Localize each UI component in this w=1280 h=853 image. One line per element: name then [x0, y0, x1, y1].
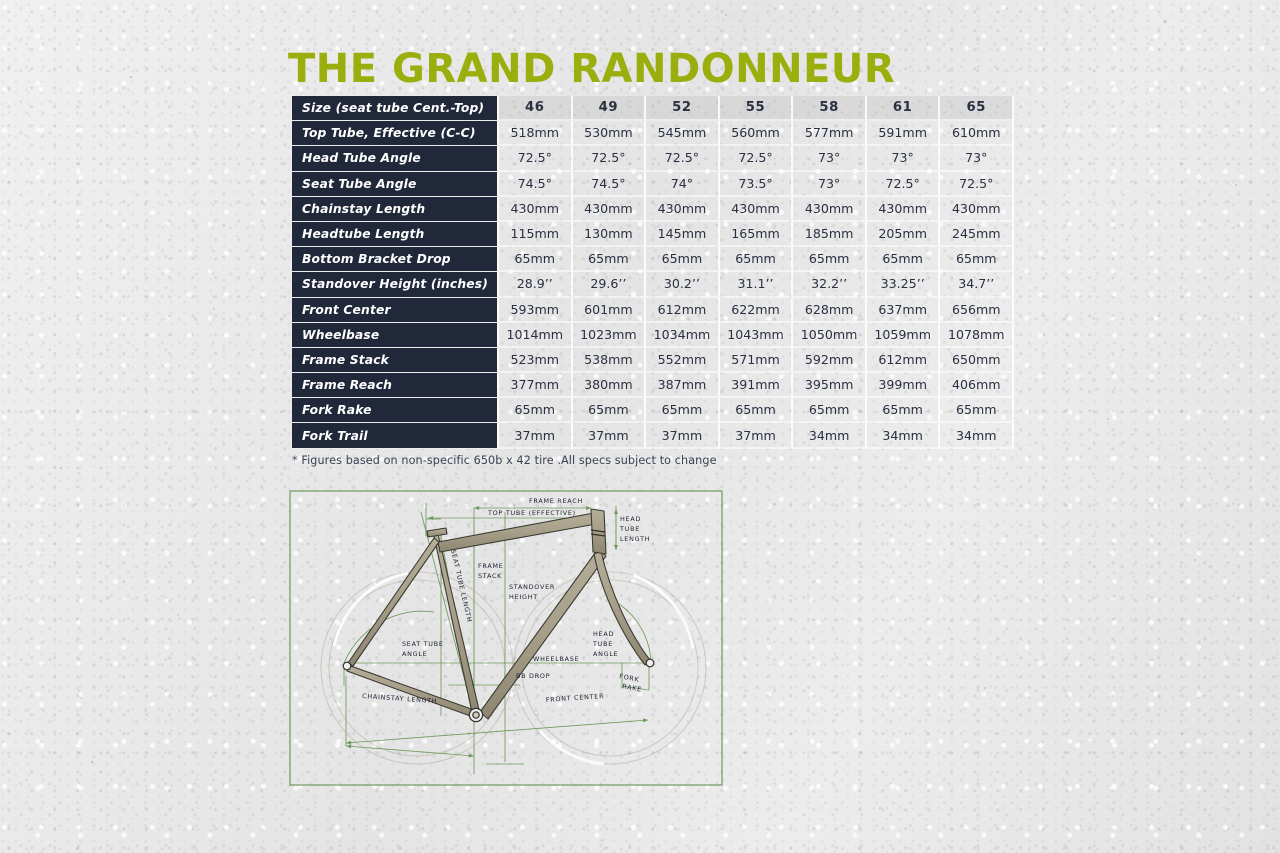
table-row: Seat Tube Angle74.5°74.5°74°73.5°73°72.5… [292, 172, 1014, 197]
table-cell: 34mm [940, 423, 1014, 448]
table-cell: 430mm [720, 197, 794, 222]
table-row-label: Head Tube Angle [292, 146, 497, 171]
table-cell: 637mm [867, 298, 941, 323]
label-wheelbase: WHEELBASE [533, 655, 579, 663]
table-row: Chainstay Length430mm430mm430mm430mm430m… [292, 197, 1014, 222]
bicycle-geometry-diagram: FRAME REACH TOP TUBE (EFFECTIVE) HEAD TU… [288, 488, 724, 788]
table-cell: 37mm [720, 423, 794, 448]
size-columns: 46 49 52 55 58 61 65 [497, 96, 1014, 121]
table-row-label: Standover Height (inches) [292, 272, 497, 297]
label-standover-height: HEIGHT [509, 593, 538, 601]
table-cell: 145mm [646, 222, 720, 247]
table-cell: 552mm [646, 348, 720, 373]
table-row-values: 74.5°74.5°74°73.5°73°72.5°72.5° [497, 172, 1014, 197]
table-cell: 530mm [573, 121, 647, 146]
table-row-label: Chainstay Length [292, 197, 497, 222]
table-cell: 34.7’’ [940, 272, 1014, 297]
table-cell: 73° [793, 146, 867, 171]
table-cell: 612mm [646, 298, 720, 323]
table-cell: 33.25’’ [867, 272, 941, 297]
table-cell: 430mm [940, 197, 1014, 222]
geometry-spec-table: Size (seat tube Cent.-Top) 46 49 52 55 5… [292, 96, 1014, 449]
table-row: Frame Stack523mm538mm552mm571mm592mm612m… [292, 348, 1014, 373]
table-cell: 65mm [720, 247, 794, 272]
table-cell: 430mm [646, 197, 720, 222]
table-cell: 1043mm [720, 323, 794, 348]
label-bb-drop: BB DROP [516, 672, 550, 680]
label-seat-tube-angle: ANGLE [402, 650, 427, 658]
table-cell: 65mm [646, 398, 720, 423]
table-cell: 72.5° [497, 146, 573, 171]
table-row-label: Bottom Bracket Drop [292, 247, 497, 272]
label-frame-stack: STACK [478, 572, 502, 580]
label-head-tube-length: TUBE [619, 525, 640, 533]
size-column-header: 52 [646, 96, 720, 121]
table-cell: 571mm [720, 348, 794, 373]
table-cell: 65mm [793, 247, 867, 272]
table-cell: 1023mm [573, 323, 647, 348]
table-cell: 65mm [867, 398, 941, 423]
table-cell: 377mm [497, 373, 573, 398]
table-cell: 650mm [940, 348, 1014, 373]
table-cell: 185mm [793, 222, 867, 247]
table-cell: 610mm [940, 121, 1014, 146]
table-row-values: 1014mm1023mm1034mm1043mm1050mm1059mm1078… [497, 323, 1014, 348]
table-cell: 65mm [867, 247, 941, 272]
table-cell: 73° [793, 172, 867, 197]
table-row: Frame Reach377mm380mm387mm391mm395mm399m… [292, 373, 1014, 398]
table-cell: 37mm [646, 423, 720, 448]
table-row: Head Tube Angle72.5°72.5°72.5°72.5°73°73… [292, 146, 1014, 171]
table-cell: 577mm [793, 121, 867, 146]
table-row: Fork Rake65mm65mm65mm65mm65mm65mm65mm [292, 398, 1014, 423]
table-cell: 34mm [867, 423, 941, 448]
table-row-label: Top Tube, Effective (C-C) [292, 121, 497, 146]
label-standover-height: STANDOVER [509, 583, 555, 591]
table-cell: 29.6’’ [573, 272, 647, 297]
table-cell: 65mm [940, 398, 1014, 423]
label-top-tube: TOP TUBE (EFFECTIVE) [487, 509, 576, 517]
table-cell: 395mm [793, 373, 867, 398]
table-cell: 1034mm [646, 323, 720, 348]
table-cell: 1078mm [940, 323, 1014, 348]
table-cell: 32.2’’ [793, 272, 867, 297]
size-column-header: 49 [573, 96, 647, 121]
table-cell: 538mm [573, 348, 647, 373]
table-cell: 430mm [867, 197, 941, 222]
table-cell: 1014mm [497, 323, 573, 348]
table-row-values: 28.9’’29.6’’30.2’’31.1’’32.2’’33.25’’34.… [497, 272, 1014, 297]
table-row-label: Frame Stack [292, 348, 497, 373]
table-cell: 31.1’’ [720, 272, 794, 297]
table-cell: 656mm [940, 298, 1014, 323]
table-cell: 65mm [573, 398, 647, 423]
table-row-values: 377mm380mm387mm391mm395mm399mm406mm [497, 373, 1014, 398]
table-cell: 72.5° [573, 146, 647, 171]
table-cell: 628mm [793, 298, 867, 323]
table-cell: 601mm [573, 298, 647, 323]
label-frame-stack: FRAME [478, 562, 504, 570]
size-column-header: 61 [867, 96, 941, 121]
table-cell: 245mm [940, 222, 1014, 247]
table-row-label: Fork Rake [292, 398, 497, 423]
table-cell: 523mm [497, 348, 573, 373]
table-cell: 72.5° [646, 146, 720, 171]
table-cell: 34mm [793, 423, 867, 448]
table-row-label: Seat Tube Angle [292, 172, 497, 197]
label-head-tube-angle: ANGLE [593, 650, 618, 658]
size-column-header: 65 [940, 96, 1014, 121]
table-cell: 65mm [497, 398, 573, 423]
table-cell: 65mm [497, 247, 573, 272]
table-row-values: 72.5°72.5°72.5°72.5°73°73°73° [497, 146, 1014, 171]
table-cell: 74° [646, 172, 720, 197]
table-cell: 37mm [573, 423, 647, 448]
table-cell: 65mm [940, 247, 1014, 272]
table-row-values: 518mm530mm545mm560mm577mm591mm610mm [497, 121, 1014, 146]
table-cell: 28.9’’ [497, 272, 573, 297]
table-cell: 593mm [497, 298, 573, 323]
table-cell: 72.5° [940, 172, 1014, 197]
table-cell: 115mm [497, 222, 573, 247]
diagram-labels: FRAME REACH TOP TUBE (EFFECTIVE) HEAD TU… [362, 497, 650, 705]
table-cell: 65mm [646, 247, 720, 272]
table-row-values: 37mm37mm37mm37mm34mm34mm34mm [497, 423, 1014, 448]
table-row: Standover Height (inches)28.9’’29.6’’30.… [292, 272, 1014, 297]
table-row-values: 65mm65mm65mm65mm65mm65mm65mm [497, 247, 1014, 272]
table-cell: 72.5° [720, 146, 794, 171]
label-fork-rake: RAKE [622, 682, 643, 694]
table-row: Top Tube, Effective (C-C)518mm530mm545mm… [292, 121, 1014, 146]
table-row: Fork Trail37mm37mm37mm37mm34mm34mm34mm [292, 423, 1014, 448]
table-row-values: 65mm65mm65mm65mm65mm65mm65mm [497, 398, 1014, 423]
table-row-values: 523mm538mm552mm571mm592mm612mm650mm [497, 348, 1014, 373]
table-body: Top Tube, Effective (C-C)518mm530mm545mm… [292, 121, 1014, 448]
table-cell: 592mm [793, 348, 867, 373]
table-footnote: * Figures based on non-specific 650b x 4… [292, 454, 717, 467]
table-row: Wheelbase1014mm1023mm1034mm1043mm1050mm1… [292, 323, 1014, 348]
table-cell: 430mm [793, 197, 867, 222]
label-head-tube-length: HEAD [620, 515, 641, 523]
table-row-label: Front Center [292, 298, 497, 323]
table-cell: 560mm [720, 121, 794, 146]
table-cell: 74.5° [573, 172, 647, 197]
page-title: THE GRAND RANDONNEUR [288, 46, 895, 92]
table-cell: 430mm [573, 197, 647, 222]
table-row: Bottom Bracket Drop65mm65mm65mm65mm65mm6… [292, 247, 1014, 272]
table-cell: 391mm [720, 373, 794, 398]
table-cell: 622mm [720, 298, 794, 323]
table-row-label: Headtube Length [292, 222, 497, 247]
table-cell: 545mm [646, 121, 720, 146]
table-cell: 73.5° [720, 172, 794, 197]
table-cell: 205mm [867, 222, 941, 247]
table-cell: 130mm [573, 222, 647, 247]
table-cell: 1050mm [793, 323, 867, 348]
table-cell: 380mm [573, 373, 647, 398]
table-cell: 165mm [720, 222, 794, 247]
size-column-header: 55 [720, 96, 794, 121]
table-row-values: 115mm130mm145mm165mm185mm205mm245mm [497, 222, 1014, 247]
label-head-tube-angle: TUBE [592, 640, 613, 648]
table-row-label: Frame Reach [292, 373, 497, 398]
table-cell: 399mm [867, 373, 941, 398]
table-cell: 73° [867, 146, 941, 171]
table-row: Front Center593mm601mm612mm622mm628mm637… [292, 298, 1014, 323]
size-column-header: 58 [793, 96, 867, 121]
table-row-header-label: Size (seat tube Cent.-Top) [292, 96, 497, 121]
table-row-values: 430mm430mm430mm430mm430mm430mm430mm [497, 197, 1014, 222]
table-cell: 430mm [497, 197, 573, 222]
label-head-tube-angle: HEAD [593, 630, 614, 638]
label-seat-tube-angle: SEAT TUBE [402, 640, 444, 648]
table-cell: 30.2’’ [646, 272, 720, 297]
label-frame-reach: FRAME REACH [529, 497, 583, 505]
table-cell: 518mm [497, 121, 573, 146]
table-cell: 1059mm [867, 323, 941, 348]
table-cell: 387mm [646, 373, 720, 398]
label-head-tube-length: LENGTH [620, 535, 650, 543]
label-front-center: FRONT CENTER [546, 692, 605, 704]
table-cell: 74.5° [497, 172, 573, 197]
table-cell: 65mm [720, 398, 794, 423]
table-cell: 37mm [497, 423, 573, 448]
table-row: Headtube Length115mm130mm145mm165mm185mm… [292, 222, 1014, 247]
table-cell: 591mm [867, 121, 941, 146]
table-cell: 65mm [793, 398, 867, 423]
table-cell: 612mm [867, 348, 941, 373]
table-row-label: Fork Trail [292, 423, 497, 448]
frame-tubes [347, 509, 650, 719]
table-cell: 65mm [573, 247, 647, 272]
table-row-values: 593mm601mm612mm622mm628mm637mm656mm [497, 298, 1014, 323]
table-header-row: Size (seat tube Cent.-Top) 46 49 52 55 5… [292, 96, 1014, 121]
table-cell: 72.5° [867, 172, 941, 197]
table-cell: 73° [940, 146, 1014, 171]
table-row-label: Wheelbase [292, 323, 497, 348]
table-cell: 406mm [940, 373, 1014, 398]
size-column-header: 46 [497, 96, 573, 121]
